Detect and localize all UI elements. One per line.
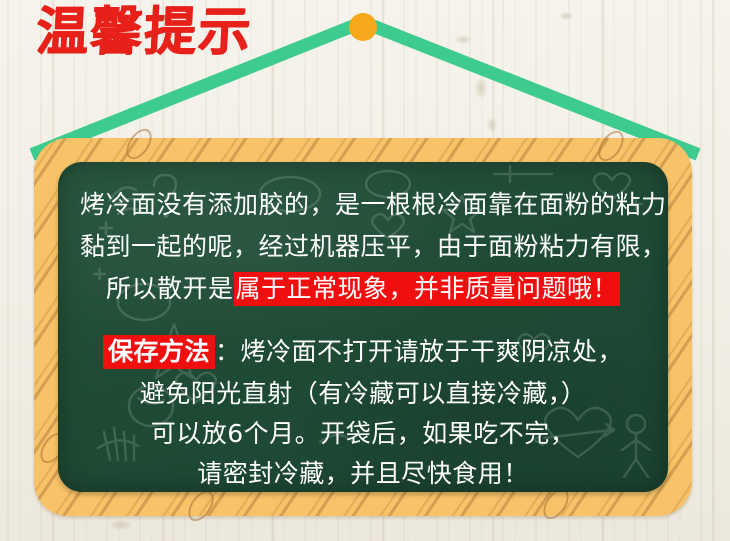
paragraph2-line4: 请密封冷藏，并且尽快食用！: [58, 459, 668, 489]
paragraph2-line3: 可以放6个月。开袋后，如果吃不完，: [58, 419, 668, 449]
paragraph2-line2: 避免阳光直射（有冷藏可以直接冷藏，）: [58, 379, 668, 409]
paragraph1-line3-highlight: 属于正常现象，并非质量问题哦！: [234, 272, 621, 306]
paragraph1-line3: 所以散开是属于正常现象，并非质量问题哦！: [58, 274, 668, 304]
paragraph2-line1: 保存方法：烤冷面不打开请放于干爽阴凉处，: [58, 337, 668, 367]
promo-banner: 温馨提示: [0, 0, 730, 541]
page-title: 温馨提示: [35, 6, 254, 58]
paragraph2-line1-rest: ：烤冷面不打开请放于干爽阴凉处，: [215, 337, 623, 366]
board-text-block: 烤冷面没有添加胶的，是一根根冷面靠在面粉的粘力 黏到一起的呢，经过机器压平，由于…: [58, 162, 668, 492]
paragraph1-line2: 黏到一起的呢，经过机器压平，由于面粉粘力有限，: [58, 232, 668, 262]
paragraph1-line3-plain: 所以散开是: [106, 274, 234, 303]
storage-method-badge: 保存方法: [103, 335, 215, 369]
orange-dot: [349, 13, 377, 41]
chalkboard: 烤冷面没有添加胶的，是一根根冷面靠在面粉的粘力 黏到一起的呢，经过机器压平，由于…: [58, 162, 668, 492]
paragraph1-line1: 烤冷面没有添加胶的，是一根根冷面靠在面粉的粘力: [58, 190, 668, 220]
